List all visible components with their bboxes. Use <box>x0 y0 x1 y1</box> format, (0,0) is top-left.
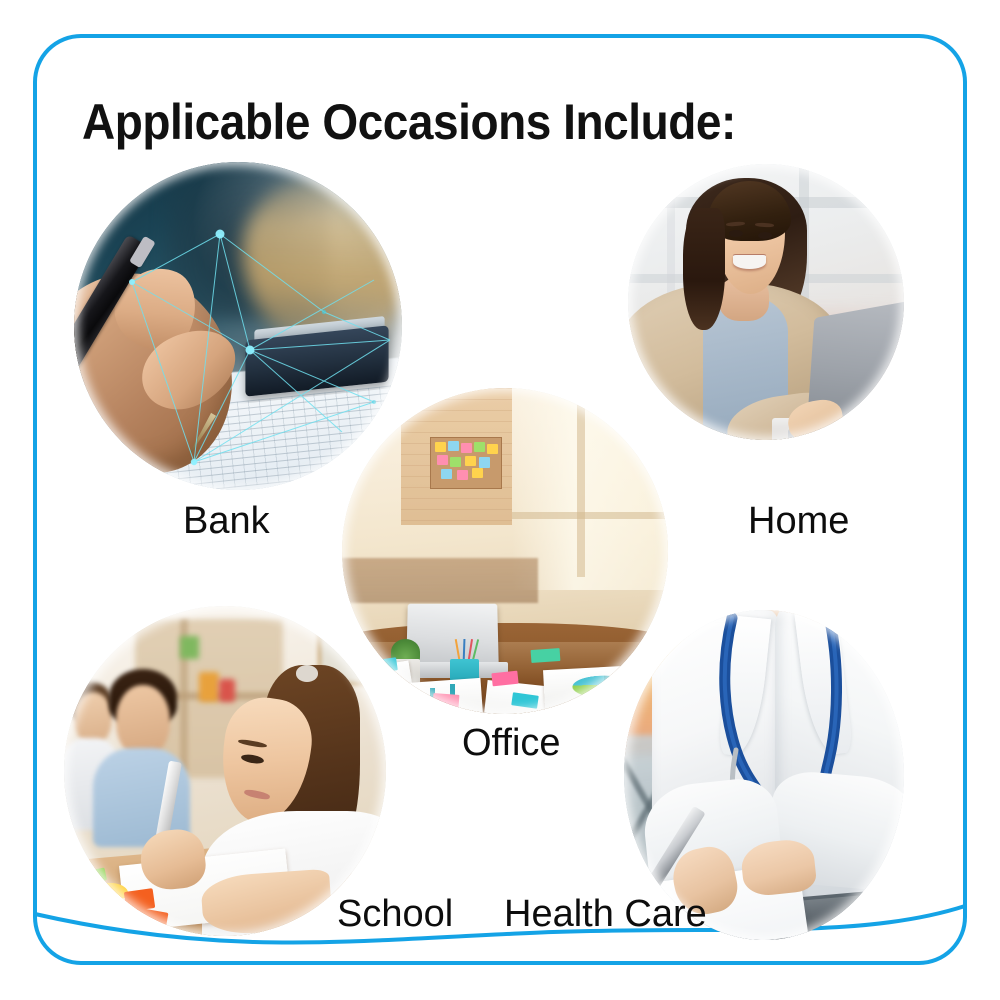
occasion-image-health-care <box>624 610 904 940</box>
office-lower-wall <box>342 558 538 604</box>
occasion-label-office: Office <box>462 722 561 765</box>
school-child-background-1-head <box>74 692 113 745</box>
occasion-label-health-care: Health Care <box>504 893 707 936</box>
office-window-mullion-h <box>512 512 668 519</box>
school-girl-hair-tie <box>296 665 319 682</box>
office-sticky-notes-board <box>433 440 498 486</box>
school-shelf-toy <box>180 636 199 659</box>
home-eye-right <box>758 232 772 239</box>
occasion-label-school: School <box>337 893 453 936</box>
home-window-frame-v2 <box>667 164 675 296</box>
page-title: Applicable Occasions Include: <box>82 93 736 151</box>
occasion-label-bank: Bank <box>183 500 270 543</box>
office-sticky-note <box>491 670 518 686</box>
occasion-image-school <box>64 606 386 936</box>
product-feature-panel: Applicable Occasions Include: <box>0 0 1000 1000</box>
occasion-label-home: Home <box>748 500 849 543</box>
office-sticky-note <box>433 694 460 709</box>
office-sticky-note <box>531 648 561 663</box>
office-window-mullion-v <box>577 388 585 577</box>
school-child-background-2-head <box>116 685 171 758</box>
home-smile <box>733 255 766 269</box>
occasion-image-home <box>628 164 904 440</box>
home-hair-side <box>683 208 724 329</box>
occasion-image-office <box>342 388 668 714</box>
